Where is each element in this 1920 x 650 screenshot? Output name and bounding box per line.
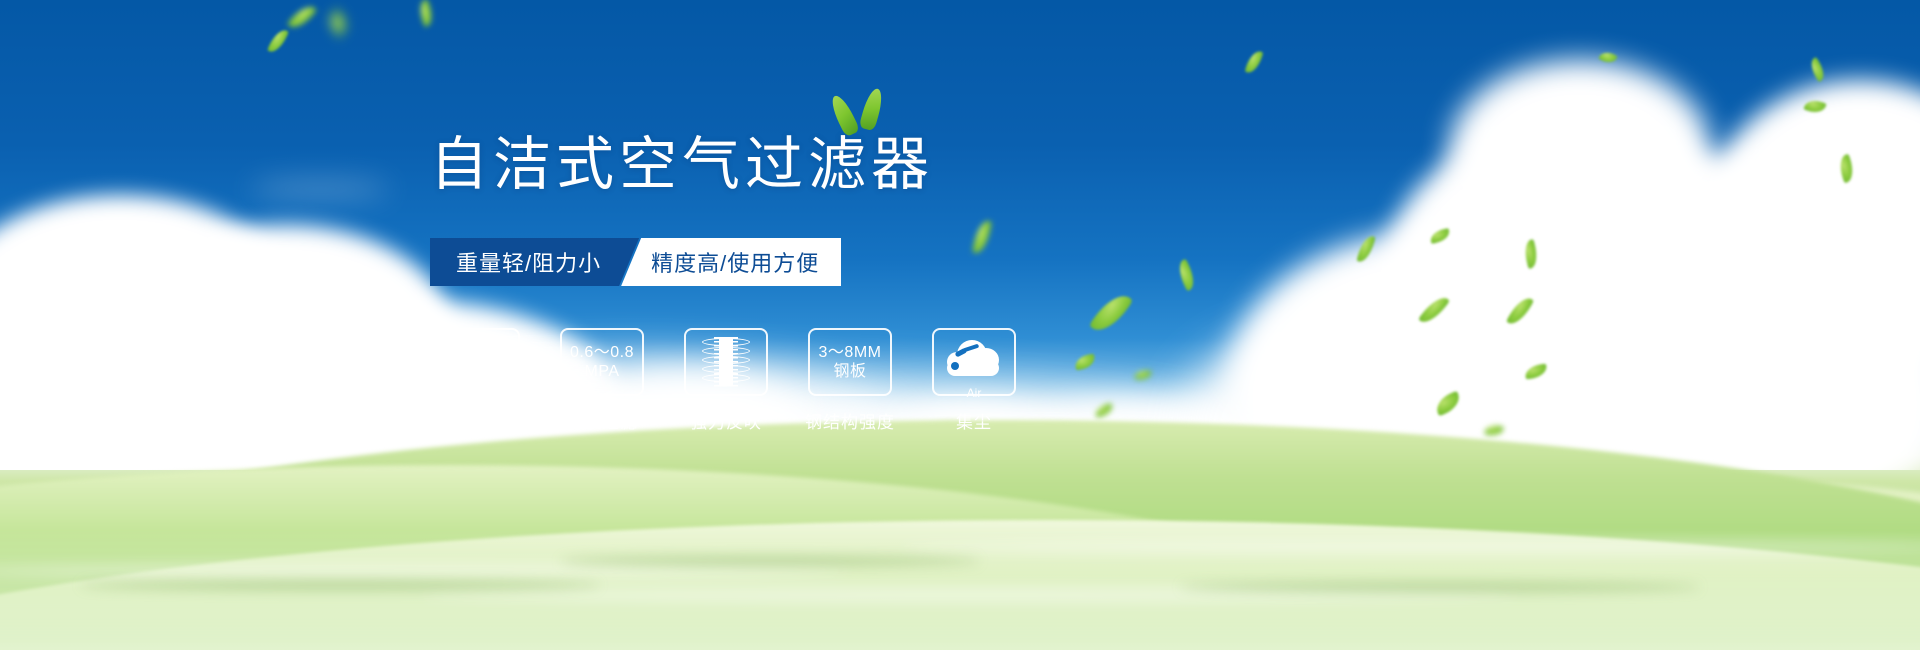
subtitle-tab-primary[interactable]: 重量轻/阻力小 xyxy=(430,238,639,286)
feature-icon-box: 3～8MM 钢板 xyxy=(808,328,892,396)
title-block: 自洁式空气过滤器 xyxy=(430,136,934,194)
feature-box-text-line2: MPA xyxy=(585,362,620,381)
feature-box-text-line1: 0.6～0.8 xyxy=(570,343,634,362)
feature-box-text-line2: 钢板 xyxy=(833,362,866,381)
feature-item-dust[interactable]: Air 集尘 xyxy=(932,328,1016,433)
coil-icon xyxy=(702,337,750,387)
gauge-needle xyxy=(473,345,483,385)
hero-banner: 自洁式空气过滤器 重量轻/阻力小 精度高/使用方便 xyxy=(0,0,1920,650)
feature-caption: 二级过滤 xyxy=(566,408,638,433)
feature-caption: 钢结构强度 xyxy=(805,408,895,433)
leaf-icon xyxy=(828,93,861,138)
feature-icon-box: Air xyxy=(932,328,1016,396)
feature-item-controller[interactable]: NO OFF 控制仪 xyxy=(436,328,520,433)
gauge-icon: NO OFF xyxy=(449,337,507,387)
air-cloud-icon: Air xyxy=(943,338,1005,386)
feature-box-text-line1: 3～8MM xyxy=(819,343,882,362)
subtitle-tab-secondary[interactable]: 精度高/使用方便 xyxy=(621,238,841,286)
feature-item-steel[interactable]: 3～8MM 钢板 钢结构强度 xyxy=(808,328,892,433)
title-leaf-decoration xyxy=(830,84,900,140)
feature-list: NO OFF 控制仪 0.6～0.8 MPA 二级过滤 xyxy=(436,328,1016,433)
banner-content: 自洁式空气过滤器 重量轻/阻力小 精度高/使用方便 xyxy=(0,0,1920,650)
feature-icon-box: NO OFF xyxy=(436,328,520,396)
feature-caption: 集尘 xyxy=(956,408,992,433)
subtitle-tabs: 重量轻/阻力小 精度高/使用方便 xyxy=(430,238,841,286)
air-label: Air xyxy=(943,386,1005,400)
leaf-icon xyxy=(859,87,886,132)
feature-icon-box: 0.6～0.8 MPA xyxy=(560,328,644,396)
feature-caption: 控制仪 xyxy=(451,408,505,433)
gauge-label-off: OFF xyxy=(497,378,512,385)
feature-icon-box xyxy=(684,328,768,396)
feature-item-blowback[interactable]: 强力反吹 xyxy=(684,328,768,433)
feature-caption: 强力反吹 xyxy=(690,408,762,433)
feature-item-pressure[interactable]: 0.6～0.8 MPA 二级过滤 xyxy=(560,328,644,433)
page-title: 自洁式空气过滤器 xyxy=(430,136,934,194)
gauge-label-no: NO xyxy=(443,363,454,370)
